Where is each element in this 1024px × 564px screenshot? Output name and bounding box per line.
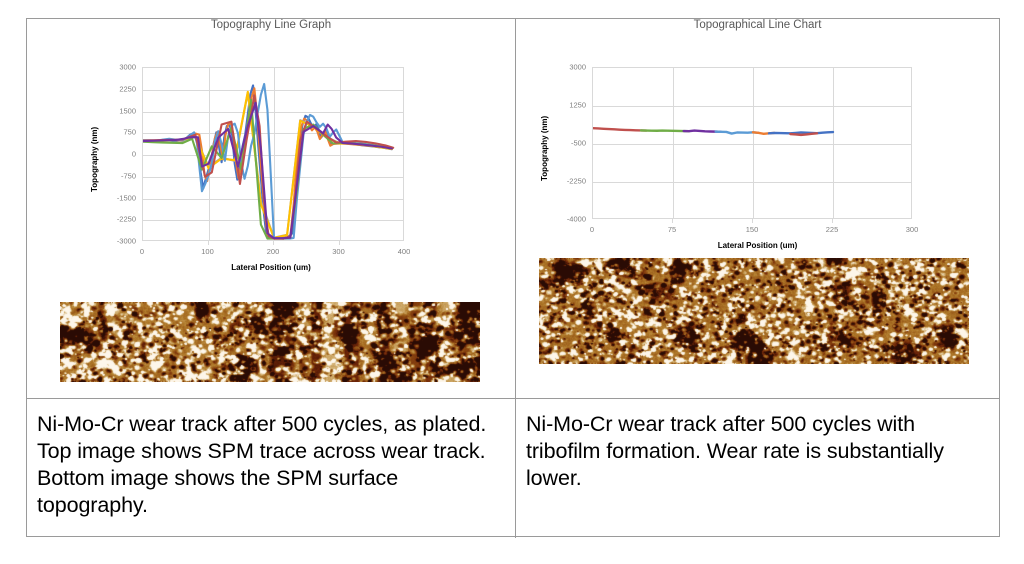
series-line xyxy=(769,132,833,133)
series-line xyxy=(790,133,817,135)
y-axis-tick-label: 1500 xyxy=(104,106,136,115)
caption-cell-right: Ni-Mo-Cr wear track after 500 cycles wit… xyxy=(516,399,999,537)
y-axis-tick-label: -3000 xyxy=(104,237,136,246)
y-axis-tick-label: 3000 xyxy=(554,63,586,72)
y-axis-tick-label: 1250 xyxy=(554,101,586,110)
caption-text-left: Ni-Mo-Cr wear track after 500 cycles, as… xyxy=(37,411,505,519)
x-axis-tick-label: 75 xyxy=(668,225,676,234)
chart-title-left: Topography Line Graph xyxy=(27,19,515,31)
x-axis-tick-mark xyxy=(832,219,833,223)
x-axis-tick-label: 300 xyxy=(906,225,919,234)
y-axis-tick-label: 3000 xyxy=(104,63,136,72)
caption-text-right: Ni-Mo-Cr wear track after 500 cycles wit… xyxy=(526,411,989,492)
y-axis-tick-label: -2250 xyxy=(554,177,586,186)
x-axis-title: Lateral Position (um) xyxy=(516,241,999,250)
y-axis-title: Topography (nm) xyxy=(540,116,549,181)
y-axis-tick-label: 0 xyxy=(104,150,136,159)
x-axis-tick-label: 150 xyxy=(746,225,759,234)
x-axis-tick-mark xyxy=(208,241,209,245)
x-axis-tick-label: 200 xyxy=(267,247,280,256)
series-line xyxy=(593,128,646,130)
chart-series-layer xyxy=(143,68,405,242)
y-axis-tick-label: -4000 xyxy=(554,215,586,224)
caption-cell-left: Ni-Mo-Cr wear track after 500 cycles, as… xyxy=(27,399,515,537)
figure-page: Topography Line Graph 3000225015007500-7… xyxy=(0,0,1024,564)
panel-right: Topographical Line Chart 30001250-500-22… xyxy=(516,19,999,398)
topographical-line-chart: Topographical Line Chart 30001250-500-22… xyxy=(516,19,999,259)
x-axis-tick-label: 225 xyxy=(826,225,839,234)
spm-image-right xyxy=(539,258,969,364)
y-axis-tick-label: -750 xyxy=(104,171,136,180)
x-axis-tick-mark xyxy=(339,241,340,245)
y-axis-tick-label: -500 xyxy=(554,139,586,148)
y-axis-tick-label: -1500 xyxy=(104,193,136,202)
y-axis-tick-label: 2250 xyxy=(104,84,136,93)
x-axis-tick-mark xyxy=(273,241,274,245)
plot-area xyxy=(142,67,404,241)
chart-series-layer xyxy=(593,68,913,220)
chart-title-right: Topographical Line Chart xyxy=(516,19,999,31)
plot-area xyxy=(592,67,912,219)
y-axis-title: Topography (nm) xyxy=(90,127,99,192)
x-axis-title: Lateral Position (um) xyxy=(27,263,515,272)
figure-table: Topography Line Graph 3000225015007500-7… xyxy=(26,18,1000,537)
x-axis-tick-mark xyxy=(752,219,753,223)
panel-left: Topography Line Graph 3000225015007500-7… xyxy=(27,19,515,398)
spm-image-left xyxy=(60,302,480,382)
x-axis-tick-label: 100 xyxy=(201,247,214,256)
y-axis-tick-label: 750 xyxy=(104,128,136,137)
x-axis-tick-mark xyxy=(672,219,673,223)
series-line xyxy=(641,130,689,131)
x-axis-tick-label: 0 xyxy=(590,225,594,234)
y-axis-tick-label: -2250 xyxy=(104,215,136,224)
x-axis-tick-label: 300 xyxy=(332,247,345,256)
x-axis-tick-label: 0 xyxy=(140,247,144,256)
x-axis-tick-label: 400 xyxy=(398,247,411,256)
topography-line-graph: Topography Line Graph 3000225015007500-7… xyxy=(27,19,515,269)
